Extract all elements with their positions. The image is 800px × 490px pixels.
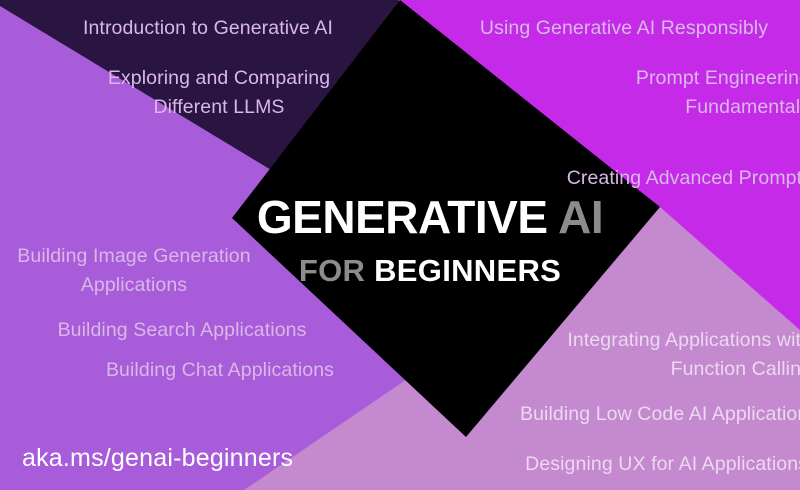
course-url[interactable]: aka.ms/genai-beginners	[22, 444, 293, 473]
lesson-label-search-applications: Building Search Applications	[38, 316, 326, 344]
lesson-label-image-generation: Building Image Generation Applications	[0, 242, 270, 300]
course-banner: Introduction to Generative AI Exploring …	[0, 0, 800, 490]
lesson-label-exploring-llms: Exploring and Comparing Different LLMS	[90, 64, 348, 122]
lesson-label-introduction: Introduction to Generative AI	[62, 14, 354, 42]
lesson-label-prompt-engineering: Prompt Engineering Fundamentals	[520, 64, 800, 122]
lesson-label-chat-applications: Building Chat Applications	[86, 356, 354, 384]
lesson-label-ux-design: Designing UX for AI Applications	[478, 450, 800, 478]
lesson-label-low-code: Building Low Code AI Applications	[520, 400, 800, 428]
lesson-label-advanced-prompts: Creating Advanced Prompts	[560, 164, 800, 193]
lesson-label-function-calling: Integrating Applications with Function C…	[560, 326, 800, 384]
lesson-label-responsible-ai: Using Generative AI Responsibly	[465, 14, 783, 42]
